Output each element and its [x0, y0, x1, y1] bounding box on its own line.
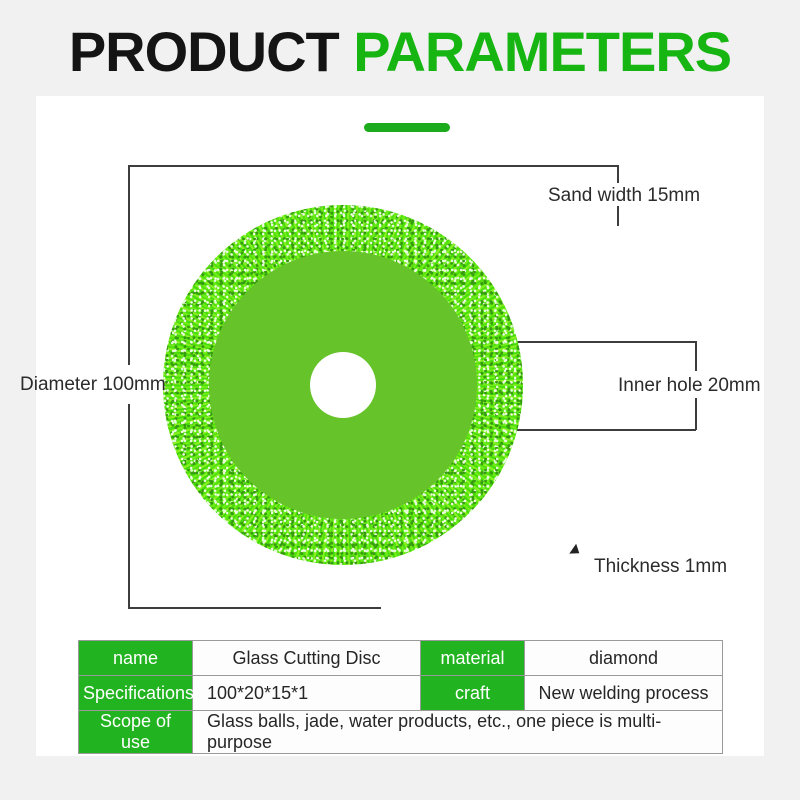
callout-inner-hole: Inner hole 20mm — [618, 376, 761, 395]
decorative-dot — [440, 123, 449, 132]
page-title-word-parameters: PARAMETERS — [353, 20, 731, 83]
spec-key-material: material — [421, 641, 525, 676]
page-title: PRODUCT PARAMETERS — [0, 24, 800, 80]
spec-key-specifications: Specifications — [79, 676, 193, 711]
cutting-disc-illustration — [163, 205, 523, 565]
spec-value-name: Glass Cutting Disc — [193, 641, 421, 676]
callout-thickness: Thickness 1mm — [594, 557, 727, 576]
table-row: Scope of use Glass balls, jade, water pr… — [79, 711, 723, 754]
spec-key-craft: craft — [421, 676, 525, 711]
diameter-bracket-bottom-line — [128, 607, 381, 609]
callout-sand-width: Sand width 15mm — [548, 186, 700, 205]
diameter-bracket-top-line — [128, 165, 618, 167]
spec-key-name: name — [79, 641, 193, 676]
disc-center-hole — [310, 352, 376, 418]
sand-width-leader-lower — [617, 206, 619, 226]
table-row: Specifications 100*20*15*1 craft New wel… — [79, 676, 723, 711]
spec-value-specifications: 100*20*15*1 — [193, 676, 421, 711]
spec-value-material: diamond — [525, 641, 723, 676]
inner-hole-bracket-right-upper — [695, 341, 697, 371]
spec-key-scope-of-use: Scope of use — [79, 711, 193, 754]
page-title-word-product: PRODUCT — [69, 20, 339, 83]
product-parameters-infographic: PRODUCT PARAMETERS Diameter 100mm Sand w… — [0, 0, 800, 800]
callout-diameter: Diameter 100mm — [20, 375, 166, 394]
diameter-bracket-left-lower — [128, 404, 130, 609]
decorative-bar — [364, 123, 450, 132]
spec-value-craft: New welding process — [525, 676, 723, 711]
inner-hole-bracket-right-lower — [695, 398, 697, 430]
table-row: name Glass Cutting Disc material diamond — [79, 641, 723, 676]
spec-value-scope-of-use: Glass balls, jade, water products, etc.,… — [193, 711, 723, 754]
spec-table: name Glass Cutting Disc material diamond… — [78, 640, 723, 754]
diameter-bracket-left-upper — [128, 165, 130, 365]
sand-width-leader-upper — [617, 165, 619, 183]
